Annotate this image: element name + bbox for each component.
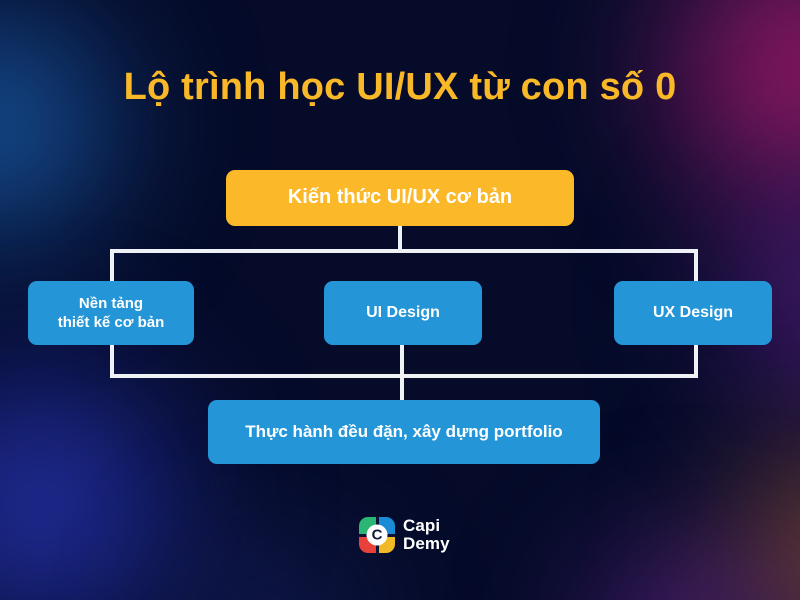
node-branch-foundation[interactable]: Nền tảng thiết kế cơ bản <box>28 281 194 345</box>
node-branch-ux-design[interactable]: UX Design <box>614 281 772 345</box>
brand-name-line1: Capi <box>403 517 450 535</box>
brand-logo[interactable]: C Capi Demy <box>359 517 450 553</box>
node-branch-ux-design-label: UX Design <box>653 303 733 323</box>
node-branch-foundation-line1: Nền tảng <box>79 295 143 312</box>
capidemy-logo-icon: C <box>359 517 395 553</box>
slide-canvas: Lộ trình học UI/UX từ con số 0 Kiến thức… <box>0 0 800 600</box>
node-root[interactable]: Kiến thức UI/UX cơ bản <box>226 170 574 226</box>
logo-letter-c: C <box>367 525 388 546</box>
connector-drop-right <box>694 249 698 283</box>
connector-up-middle <box>400 345 404 377</box>
brand-name-line2: Demy <box>403 535 450 553</box>
node-root-label: Kiến thức UI/UX cơ bản <box>288 185 512 211</box>
node-branch-foundation-label: Nền tảng thiết kế cơ bản <box>58 294 165 332</box>
brand-name: Capi Demy <box>403 517 450 553</box>
connector-root-stub <box>398 226 402 251</box>
connector-top-bar <box>110 249 698 253</box>
connector-drop-left <box>110 249 114 283</box>
connector-bottom-bar <box>110 374 698 378</box>
node-outcome[interactable]: Thực hành đều đặn, xây dựng portfolio <box>208 400 600 464</box>
node-outcome-label: Thực hành đều đặn, xây dựng portfolio <box>245 421 562 443</box>
node-branch-ui-design[interactable]: UI Design <box>324 281 482 345</box>
page-title: Lộ trình học UI/UX từ con số 0 <box>0 66 800 109</box>
connector-bottom-stub <box>400 374 404 402</box>
connector-up-right <box>694 345 698 377</box>
node-branch-ui-design-label: UI Design <box>366 303 440 323</box>
node-branch-foundation-line2: thiết kế cơ bản <box>58 314 165 331</box>
connector-up-left <box>110 345 114 377</box>
